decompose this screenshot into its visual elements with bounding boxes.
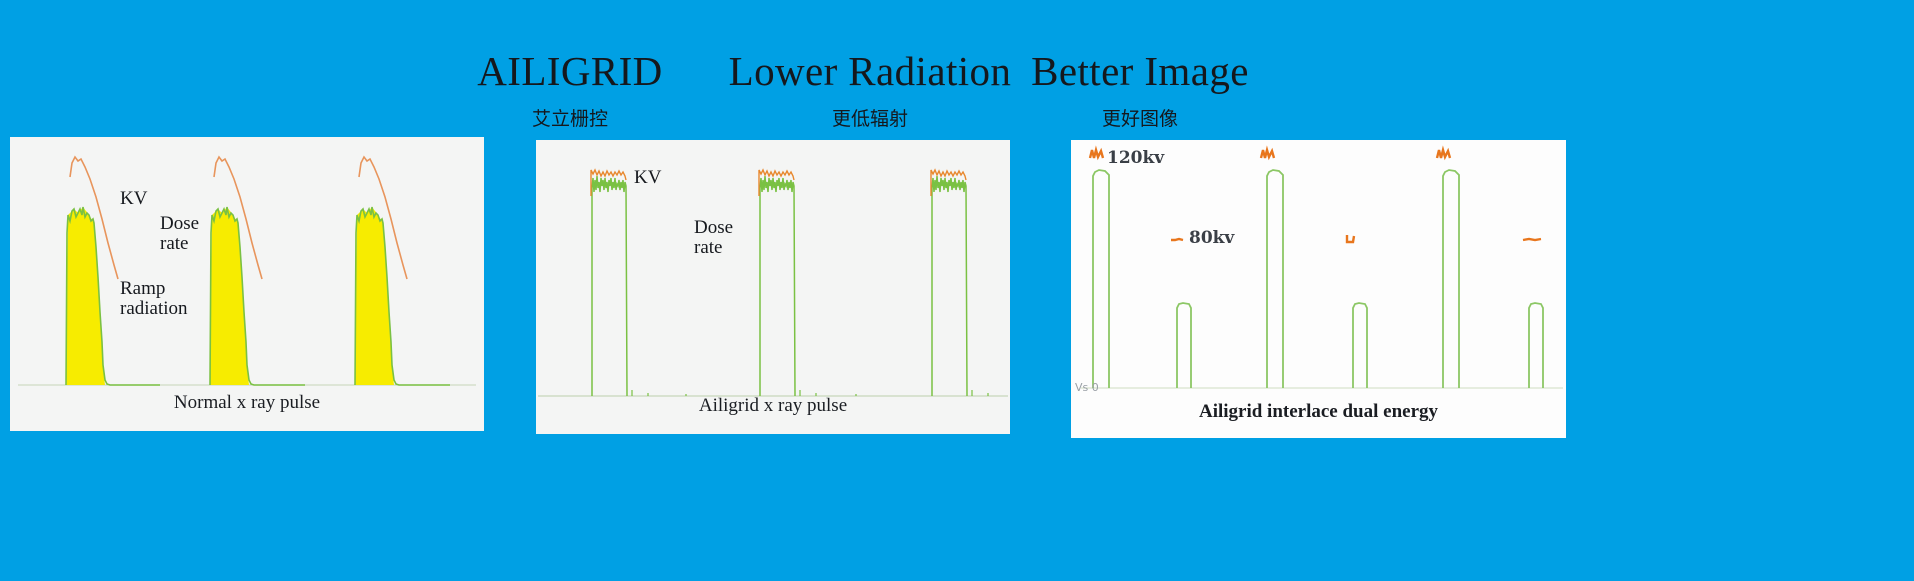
header-group-better-image: Better Image 更好图像	[880, 50, 1400, 131]
legend-80kv: 80kv	[1189, 228, 1234, 248]
pulse-low-2	[1353, 303, 1367, 388]
slide-root: AILIGRID 艾立栅控 Lower Radiation 更低辐射 Bette…	[0, 0, 1914, 581]
annotation-dose-rate: Dose rate	[160, 194, 199, 254]
annotation-kv: KV	[120, 169, 147, 209]
kv-marker-high-3	[1437, 150, 1450, 158]
chart-ailigrid-xray-pulse	[536, 140, 1010, 434]
legend-80kv-text: 80kv	[1189, 228, 1234, 248]
annotation-kv-text: KV	[634, 167, 661, 188]
pulse-high-1	[1093, 170, 1109, 388]
panel-caption-normal: Normal x ray pulse	[10, 392, 484, 422]
dose-square-3	[932, 176, 967, 396]
header: AILIGRID 艾立栅控 Lower Radiation 更低辐射 Bette…	[0, 24, 1914, 120]
kv-marker-low-3	[1523, 239, 1541, 240]
pulse-low-3	[1529, 303, 1543, 388]
chart-normal-xray-pulse	[10, 137, 484, 431]
legend-120kv: 120kv	[1107, 148, 1164, 168]
chart-interlace-dual-energy	[1071, 140, 1566, 438]
panel-caption-ailigrid: Ailigrid x ray pulse	[536, 395, 1010, 425]
pulse-low-1	[1177, 303, 1191, 388]
annotation-kv: KV	[634, 148, 661, 188]
pulse-high-2	[1267, 170, 1283, 388]
panel-interlace-dual-energy: 120kv 80kv Vs 0 Ailigrid interlace dual …	[1071, 140, 1566, 438]
annotation-dose-rate-text: Dose rate	[160, 213, 199, 254]
legend-120kv-text: 120kv	[1107, 148, 1164, 168]
kv-marker-high-2	[1261, 150, 1274, 158]
pulse-high-3	[1443, 170, 1459, 388]
annotation-dose-rate: Dose rate	[694, 198, 733, 258]
header-title-better-image: Better Image	[880, 50, 1400, 93]
axis-origin-label: Vs 0	[1075, 381, 1099, 394]
dose-square-2	[760, 176, 795, 396]
annotation-dose-rate-text: Dose rate	[694, 217, 733, 258]
panel-caption-interlace: Ailigrid interlace dual energy	[1071, 401, 1566, 431]
header-subtitle-better-image: 更好图像	[880, 104, 1400, 131]
kv-marker-low-2	[1347, 235, 1354, 242]
panel-ailigrid-xray-pulse: KV Dose rate Ailigrid x ray pulse	[536, 140, 1010, 434]
annotation-kv-text: KV	[120, 188, 147, 209]
kv-marker-low-1	[1171, 239, 1183, 240]
annotation-ramp-radiation-text: Ramp radiation	[120, 278, 188, 319]
panel-normal-xray-pulse: KV Dose rate Ramp radiation Normal x ray…	[10, 137, 484, 431]
annotation-ramp-radiation: Ramp radiation	[120, 259, 188, 319]
kv-marker-high-1	[1090, 150, 1103, 158]
dose-square-1	[592, 176, 627, 396]
